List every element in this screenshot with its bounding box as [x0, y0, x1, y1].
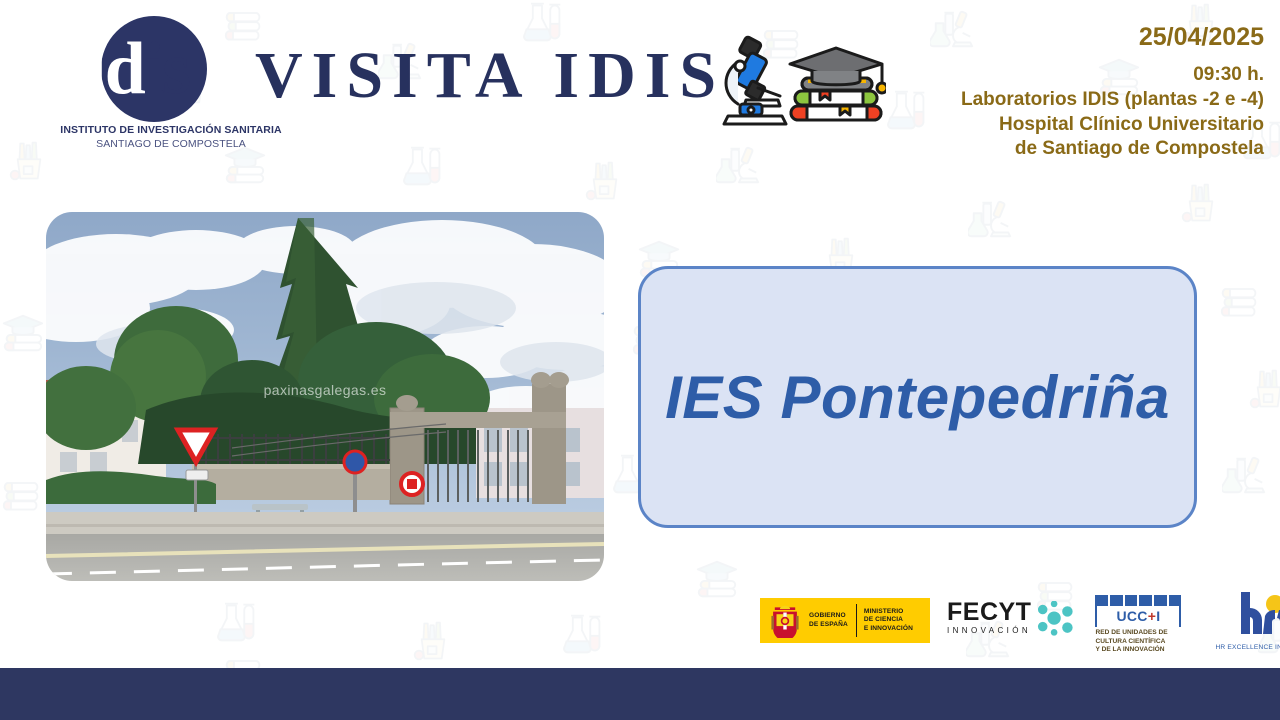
- gobierno-label: GOBIERNO DE ESPAÑA: [809, 612, 848, 629]
- flask-testtube-icon: [884, 88, 928, 132]
- school-entrance-photo: paxinasgalegas.es: [46, 212, 604, 581]
- fecyt-subtitle: INNOVACIÓN: [947, 625, 1031, 636]
- event-date: 25/04/2025: [961, 22, 1264, 52]
- bottom-bar: [0, 668, 1280, 720]
- event-info: 25/04/2025 09:30 h. Laboratorios IDIS (p…: [961, 22, 1264, 162]
- spain-coat-of-arms-icon: [768, 604, 802, 638]
- idis-letter-i2: i: [144, 28, 163, 110]
- idis-letter-i: i: [86, 28, 105, 110]
- books-graduation-cap-icon: [790, 48, 886, 120]
- ministerio-line1: MINISTERIO: [864, 608, 913, 616]
- flask-testtube-icon: [214, 600, 258, 644]
- event-place-line3: de Santiago de Compostela: [961, 137, 1264, 162]
- microscope-flask-icon: [968, 196, 1014, 242]
- fecyt-logo: FECYT INNOVACIÓN: [947, 600, 1075, 639]
- photo-watermark-text: paxinasgalegas.es: [46, 382, 604, 398]
- ucc-bar: [1154, 595, 1167, 606]
- fecyt-text: FECYT INNOVACIÓN: [947, 600, 1031, 636]
- event-place-line2: Hospital Clínico Universitario: [961, 113, 1264, 138]
- idis-subtitle-line2: SANTIAGO DE COMPOSTELA: [46, 138, 296, 150]
- event-place-line1: Laboratorios IDIS (plantas -2 e -4): [961, 88, 1264, 113]
- ucc-bar: [1095, 595, 1108, 606]
- poster-canvas: idis INSTITUTO DE INVESTIGACIÓN SANITARI…: [0, 0, 1280, 720]
- school-name-box: IES Pontepedriña: [638, 266, 1197, 528]
- ucc-sub-line2: CULTURA CIENTÍFICA: [1095, 638, 1189, 647]
- idis-subtitle-line1: INSTITUTO DE INVESTIGACIÓN SANITARIA: [46, 124, 296, 136]
- ucc-sub-line3: Y DE LA INNOVACIÓN: [1095, 646, 1189, 655]
- gobierno-de-espana-logo: GOBIERNO DE ESPAÑA MINISTERIO DE CIENCIA…: [760, 598, 930, 643]
- ucc-bars: [1095, 595, 1181, 606]
- hr-logo-icon: [1235, 590, 1280, 636]
- school-name: IES Pontepedriña: [665, 363, 1170, 432]
- pencil-cup-icon: [1248, 368, 1280, 410]
- gobierno-line1: GOBIERNO: [809, 612, 848, 620]
- ministerio-line2: DE CIENCIA: [864, 616, 913, 624]
- ucc-bar: [1169, 595, 1182, 606]
- gobierno-divider: [856, 604, 857, 637]
- idis-letter-d: d: [105, 28, 144, 110]
- hr-subtitle: HR EXCELLENCE IN RESEARCH: [1215, 644, 1280, 651]
- page-title: VISITA IDIS: [255, 38, 725, 114]
- microscope-flask-icon: [716, 142, 762, 188]
- ucc-sub-line1: RED DE UNIDADES DE: [1095, 629, 1189, 638]
- header-icons-svg: [716, 28, 886, 133]
- gobierno-ministerio-logo: GOBIERNO DE ESPAÑA MINISTERIO DE CIENCIA…: [760, 588, 930, 643]
- pencil-cup-icon: [584, 160, 626, 202]
- ucc-logo: UCC+I RED DE UNIDADES DE CULTURA CIENTÍF…: [1095, 595, 1189, 655]
- pencil-cup-icon: [8, 140, 50, 182]
- footer-logo-group: GOBIERNO DE ESPAÑA MINISTERIO DE CIENCIA…: [760, 588, 1268, 654]
- event-time: 09:30 h.: [961, 62, 1264, 88]
- books-stack-icon: [1218, 278, 1262, 322]
- ucc-subtitle: RED DE UNIDADES DE CULTURA CIENTÍFICA Y …: [1095, 629, 1189, 655]
- fecyt-wordmark: FECYT: [947, 600, 1031, 625]
- books-stack-icon: [0, 472, 44, 516]
- flask-testtube-icon: [400, 144, 444, 188]
- graduation-books-icon: [694, 556, 740, 602]
- ucc-bar: [1110, 595, 1123, 606]
- ucc-word-suffix: I: [1156, 608, 1160, 624]
- header-icon-group: [716, 28, 886, 133]
- ministerio-label: MINISTERIO DE CIENCIA E INNOVACIÓN: [864, 608, 913, 633]
- hr-excellence-logo: HR EXCELLENCE IN RESEARCH: [1215, 590, 1280, 651]
- ministerio-line3: E INNOVACIÓN: [864, 625, 913, 633]
- pencil-cup-icon: [1180, 182, 1222, 224]
- gobierno-line2: DE ESPAÑA: [809, 621, 848, 629]
- ucc-word-prefix: UCC: [1116, 608, 1147, 624]
- idis-letter-s: s: [162, 28, 189, 110]
- ucc-bar: [1125, 595, 1138, 606]
- ucc-wordmark: UCC+I: [1095, 606, 1181, 627]
- microscope-icon: [724, 36, 786, 124]
- graduation-books-icon: [0, 310, 46, 356]
- flask-testtube-icon: [560, 612, 604, 656]
- pencil-cup-icon: [412, 620, 454, 662]
- fecyt-molecule-icon: [1037, 601, 1075, 639]
- ucc-bar: [1139, 595, 1152, 606]
- ucc-word-plus: +: [1148, 608, 1156, 624]
- microscope-flask-icon: [1222, 452, 1268, 498]
